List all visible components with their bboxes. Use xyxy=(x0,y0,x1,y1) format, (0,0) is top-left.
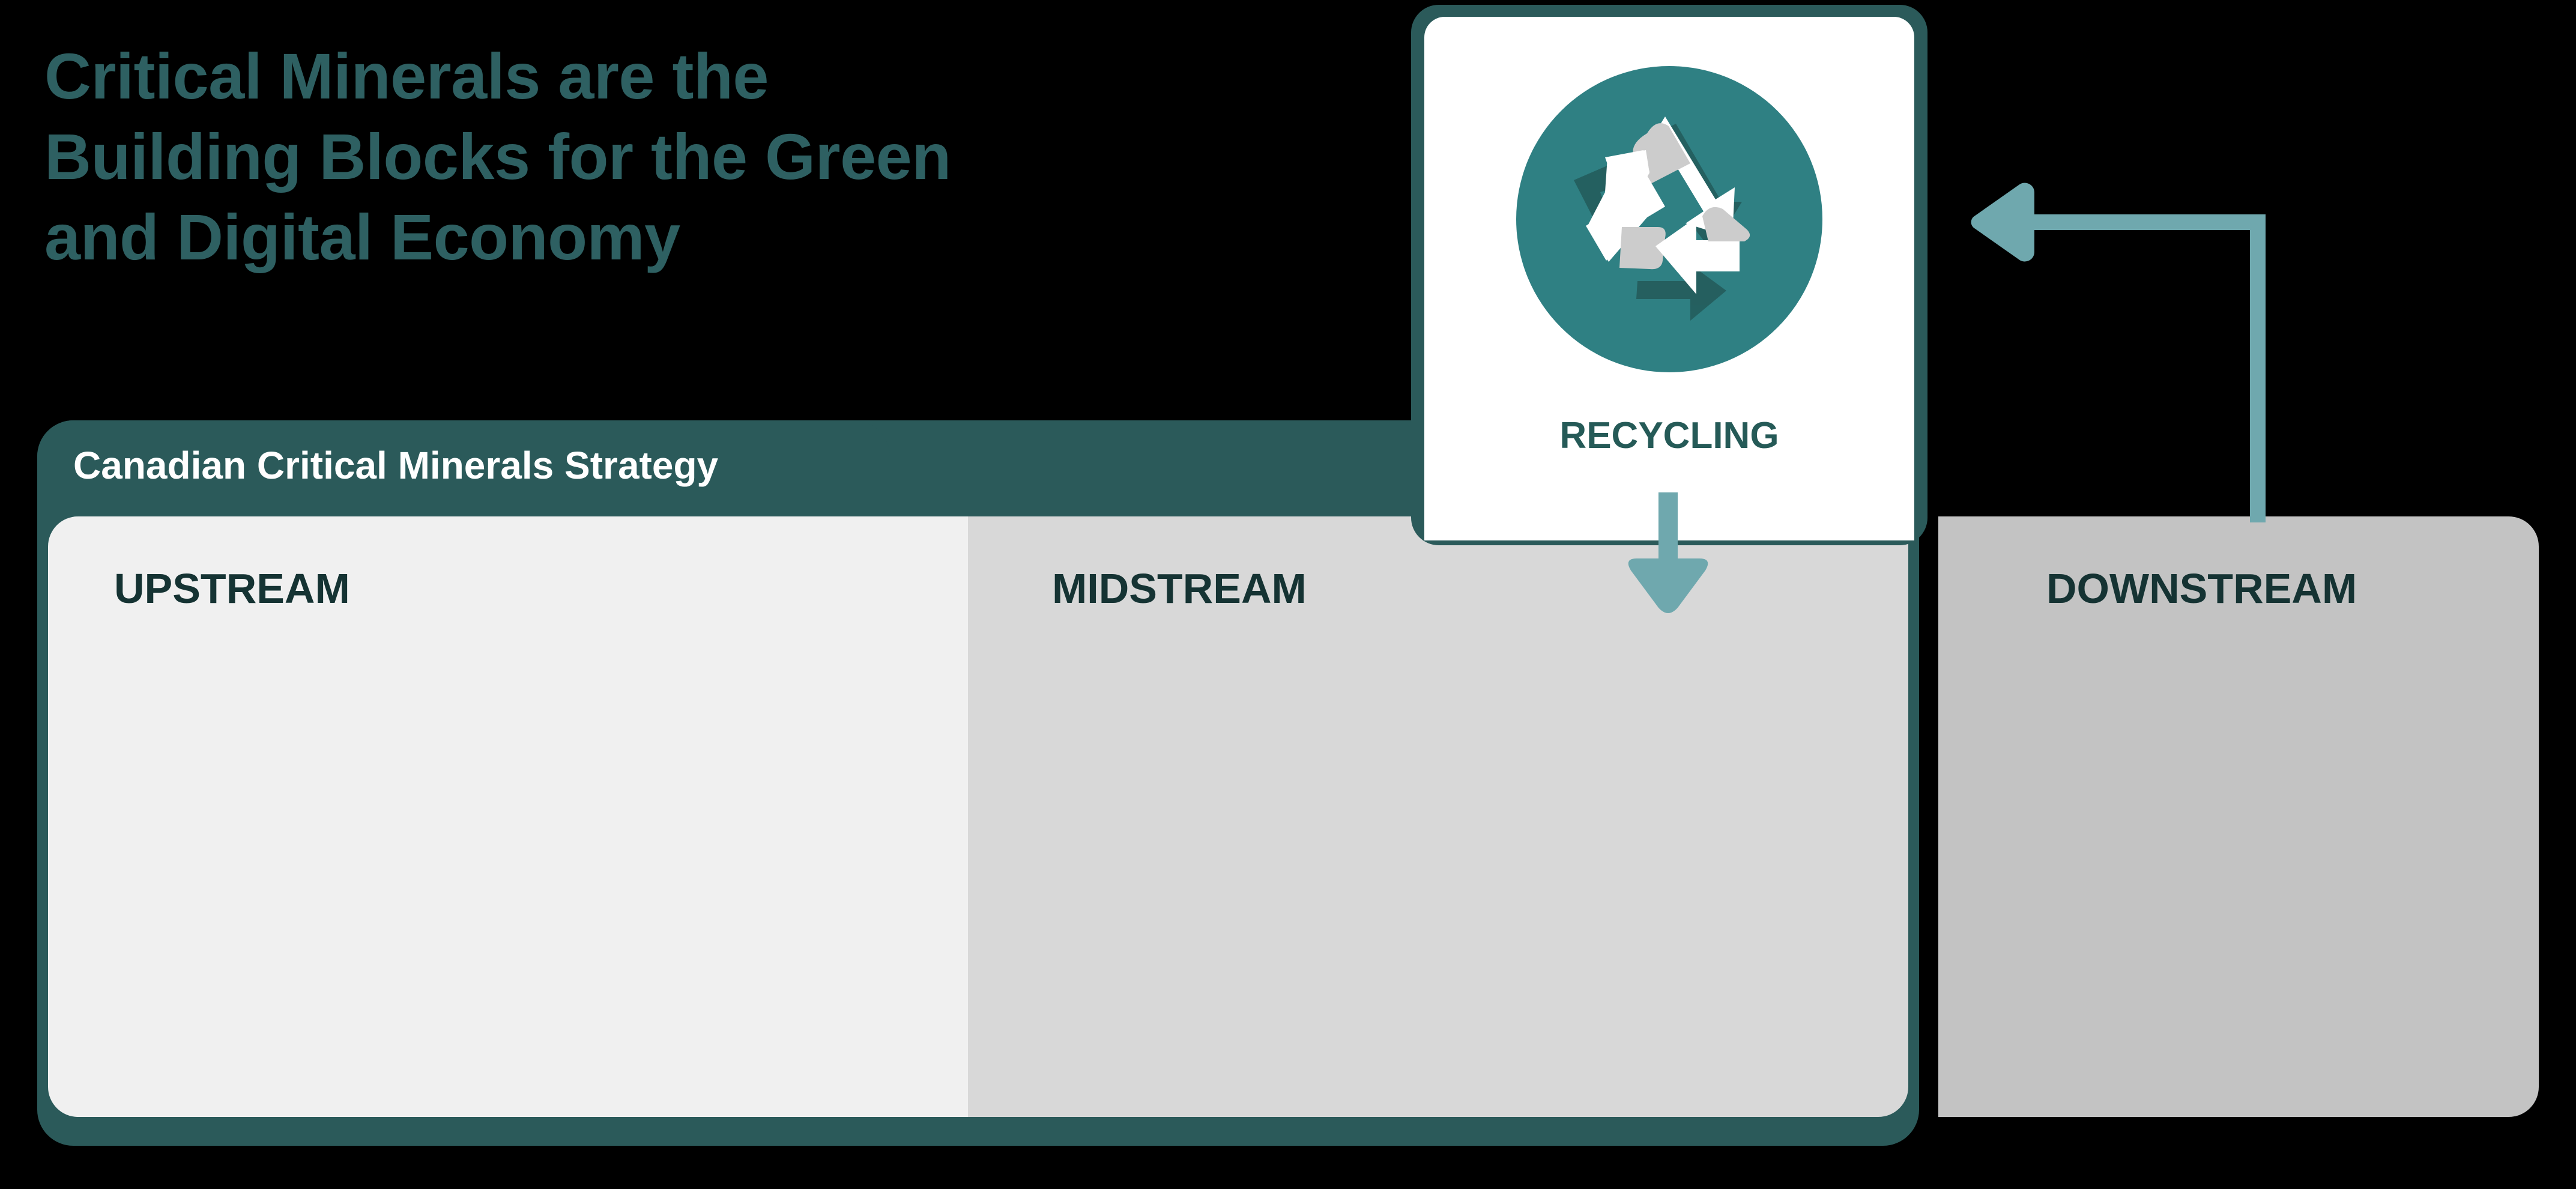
panel-midstream: MIDSTREAM xyxy=(968,516,1908,1117)
panel-header-midstream: MIDSTREAM xyxy=(1052,564,1307,613)
title-line-1: Critical Minerals are the xyxy=(44,36,1185,116)
title-line-3: and Digital Economy xyxy=(44,197,1185,277)
recycling-arrows-icon xyxy=(1516,66,1822,372)
page-title: Critical Minerals are the Building Block… xyxy=(44,36,1185,277)
title-line-2: Building Blocks for the Green xyxy=(44,116,1185,197)
panel-upstream: UPSTREAM xyxy=(48,516,968,1117)
arrow-recycling-to-midstream xyxy=(1621,492,1729,613)
arrow-downstream-to-recycling xyxy=(1940,162,2336,546)
panel-header-downstream: DOWNSTREAM xyxy=(2046,564,2357,613)
panel-downstream: DOWNSTREAM xyxy=(1938,516,2539,1117)
panel-header-upstream: UPSTREAM xyxy=(114,564,350,613)
recycling-label: RECYCLING xyxy=(1424,414,1914,457)
strategy-tab-label: Canadian Critical Minerals Strategy xyxy=(73,443,718,488)
